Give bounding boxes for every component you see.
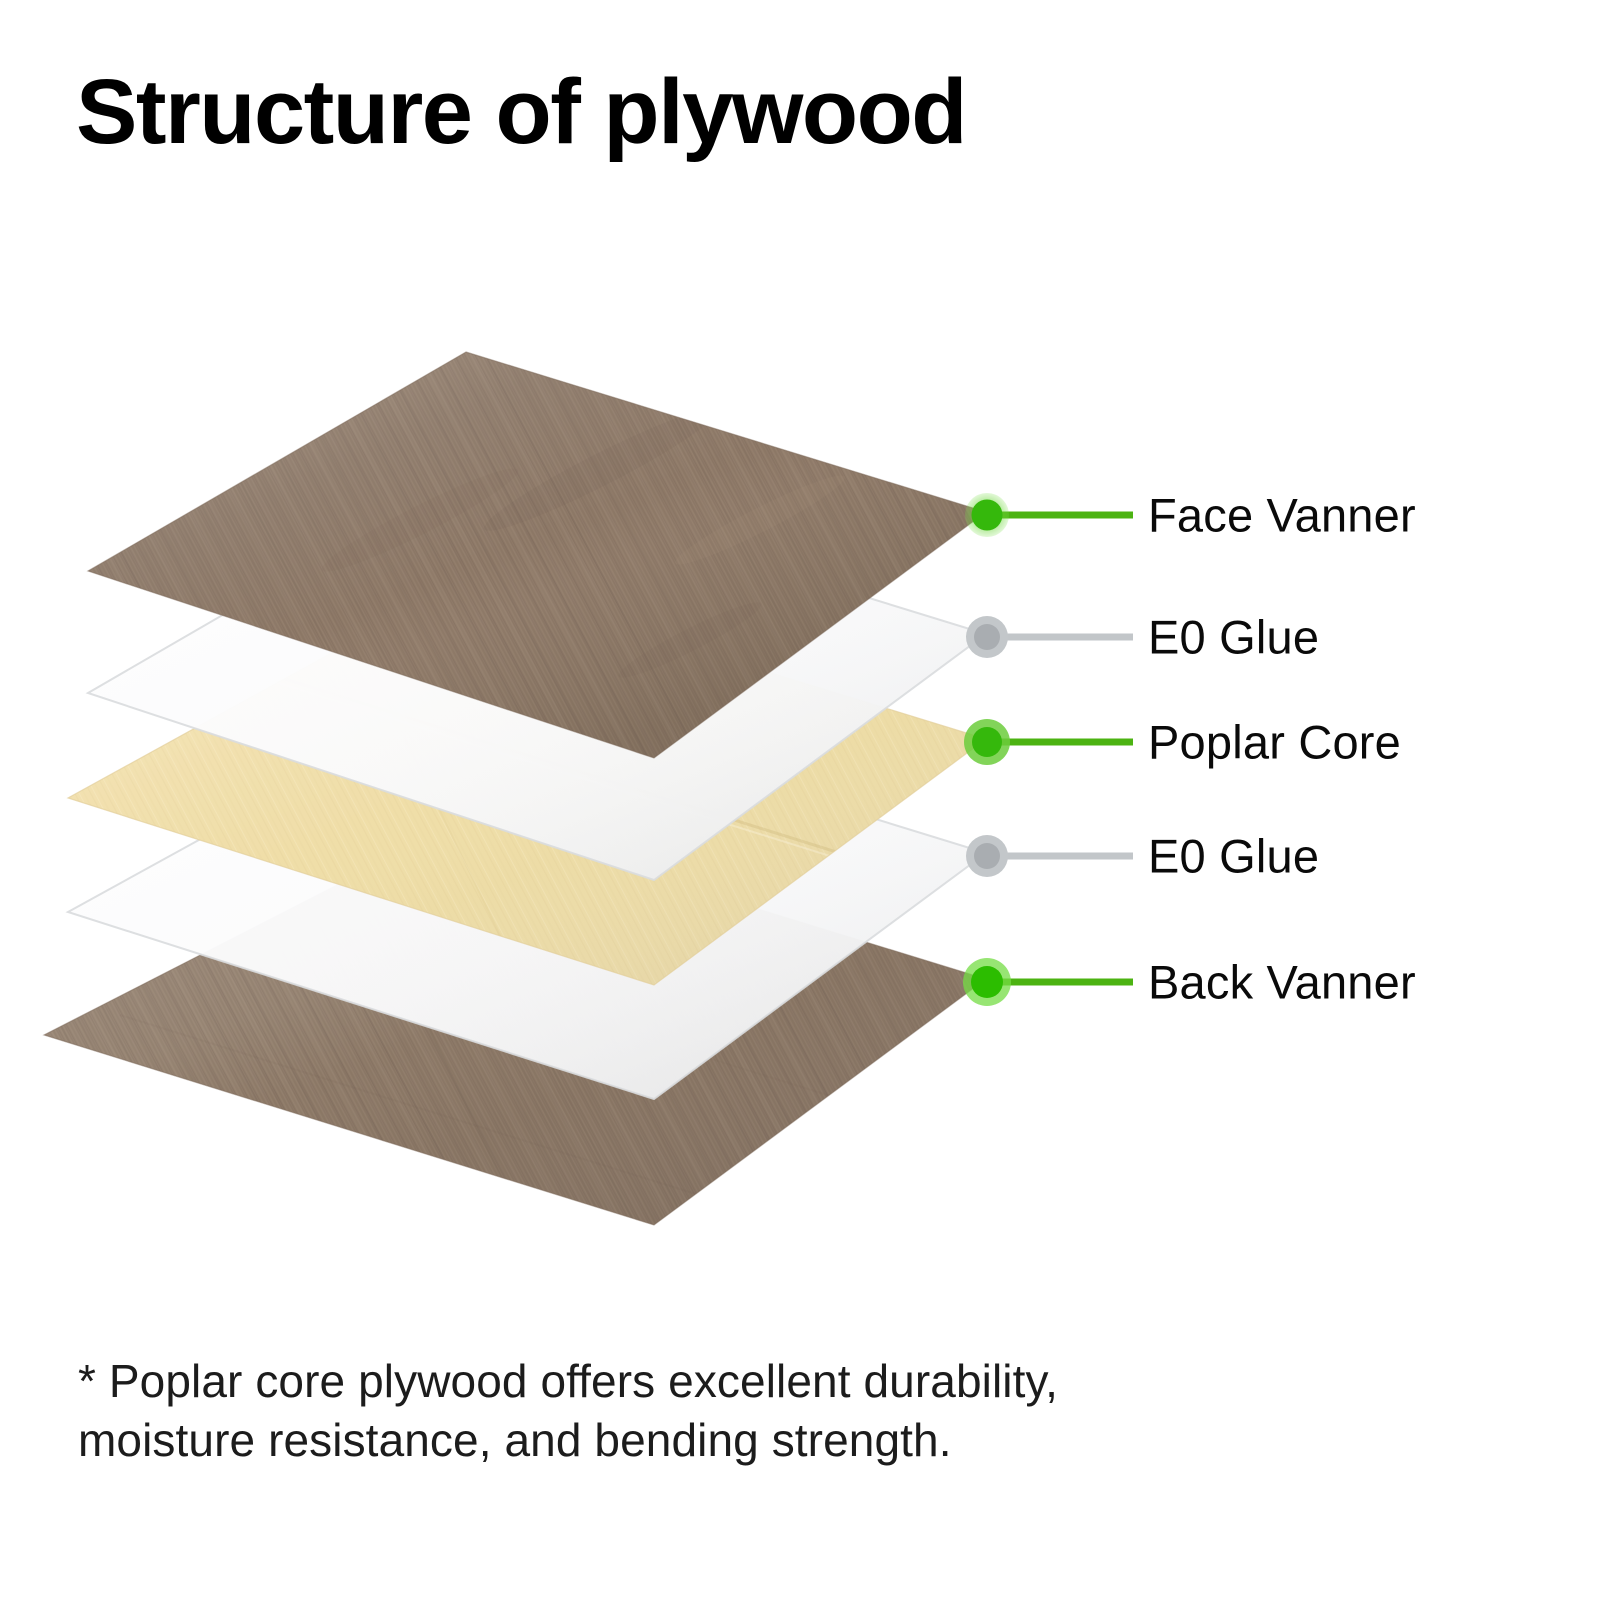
- label-glue-top[interactable]: E0 Glue: [1148, 614, 1319, 661]
- label-poplar-core[interactable]: Poplar Core: [1148, 719, 1401, 766]
- marker-dot-poplar-core: [972, 727, 1002, 757]
- label-face-vanner[interactable]: Face Vanner: [1148, 492, 1416, 539]
- footnote-line-1: * Poplar core plywood offers excellent d…: [78, 1352, 1398, 1411]
- label-glue-bottom[interactable]: E0 Glue: [1148, 833, 1319, 880]
- footnote-line-2: moisture resistance, and bending strengt…: [78, 1411, 1398, 1470]
- leader-face-vanner: [965, 493, 1133, 537]
- marker-dot-glue-bottom: [974, 843, 1000, 869]
- footnote: * Poplar core plywood offers excellent d…: [78, 1352, 1398, 1470]
- marker-dot-back-vanner: [971, 966, 1003, 998]
- marker-dot-face-vanner: [972, 500, 1003, 531]
- label-back-vanner[interactable]: Back Vanner: [1148, 959, 1416, 1006]
- leader-poplar-core: [964, 719, 1133, 765]
- leader-glue-bottom: [966, 835, 1133, 877]
- leader-back-vanner: [963, 958, 1133, 1006]
- marker-dot-glue-top: [974, 624, 1000, 650]
- leader-glue-top: [966, 616, 1133, 658]
- poster-canvas: Structure of plywood: [0, 0, 1600, 1600]
